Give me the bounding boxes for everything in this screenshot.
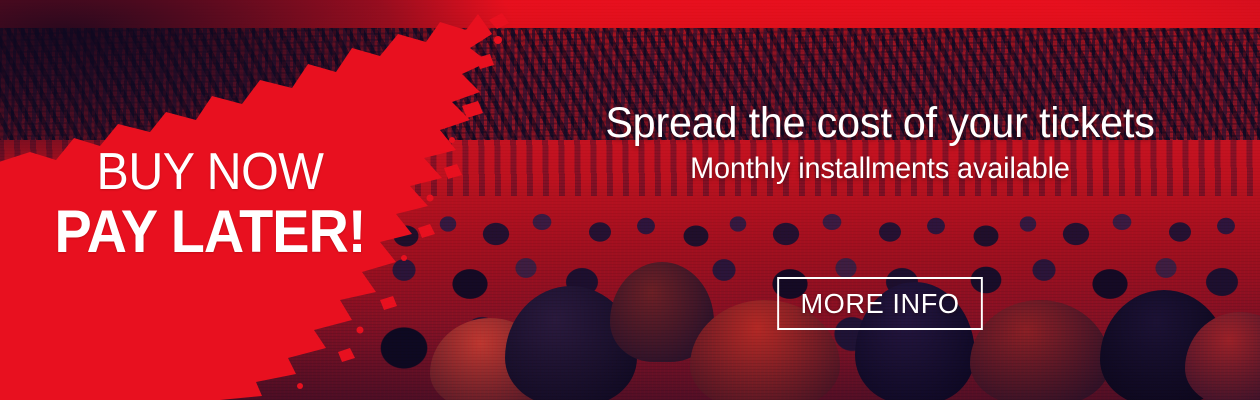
more-info-button[interactable]: MORE INFO — [777, 277, 983, 330]
cta-container: MORE INFO — [560, 277, 1200, 330]
promo-line-buy-now: BUY NOW — [15, 146, 406, 198]
promo-line-pay-later: PAY LATER! — [15, 202, 406, 262]
pitch-text-block: Spread the cost of your tickets Monthly … — [560, 100, 1200, 185]
pitch-subheadline: Monthly installments available — [573, 152, 1187, 185]
promotional-banner: BUY NOW PAY LATER! Spread the cost of yo… — [0, 0, 1260, 400]
promo-headline-block: BUY NOW PAY LATER! — [0, 146, 420, 262]
pitch-headline: Spread the cost of your tickets — [573, 100, 1187, 146]
